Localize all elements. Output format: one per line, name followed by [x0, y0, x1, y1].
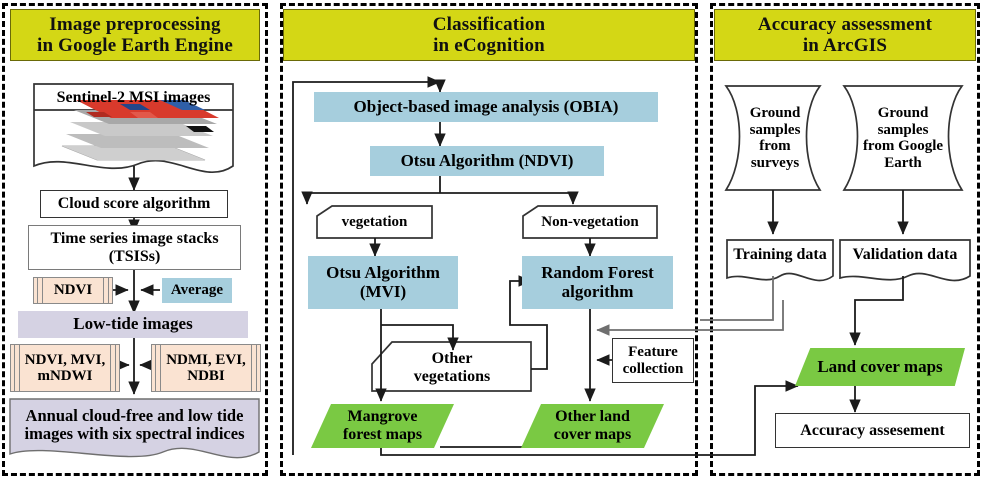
- predefined-bar-left: [14, 345, 20, 391]
- node-ground-samples-google-earth[interactable]: Ground samples from Google Earth: [853, 92, 953, 184]
- node-land-cover-maps[interactable]: Land cover maps: [795, 348, 965, 386]
- ground-surveys-line3: from: [750, 138, 801, 155]
- node-other-cover-maps-line2: cover maps: [554, 426, 631, 444]
- node-mangrove-forest-maps[interactable]: Mangrove forest maps: [311, 404, 454, 448]
- node-annual-images-line2: images with six spectral indices: [25, 425, 245, 443]
- ground-surveys-line4: surveys: [750, 155, 801, 172]
- node-feature-collection-line2: collection: [623, 361, 684, 378]
- node-mangrove-forest-maps-line1: Mangrove: [343, 408, 422, 426]
- node-annual-images-line1: Annual cloud-free and low tide: [25, 407, 245, 425]
- predefined-bar-left: [155, 345, 161, 391]
- node-other-cover-maps-line1: Other land: [554, 408, 631, 426]
- node-random-forest-line1: Random Forest: [541, 264, 654, 283]
- ground-google-line2: samples: [863, 122, 943, 139]
- flowchart-figure: Image preprocessing in Google Earth Engi…: [0, 0, 982, 479]
- node-annual-images[interactable]: Annual cloud-free and low tide images wi…: [10, 400, 259, 450]
- node-validation-data[interactable]: Validation data: [842, 243, 968, 267]
- node-sentinel-label: Sentinel-2 MSI images: [36, 86, 231, 110]
- node-indices-right[interactable]: NDMI, EVI, NDBI: [151, 344, 261, 392]
- node-random-forest-line2: algorithm: [541, 283, 654, 302]
- node-ground-samples-surveys[interactable]: Ground samples from surveys: [736, 92, 814, 184]
- predefined-bar-right: [110, 345, 116, 391]
- node-indices-left[interactable]: NDVI, MVI, mNDWI: [10, 344, 120, 392]
- predefined-bar-right: [103, 278, 109, 303]
- node-other-vegetations[interactable]: Other vegetations: [374, 344, 530, 391]
- node-otsu-ndvi[interactable]: Otsu Algorithm (NDVI): [370, 146, 604, 176]
- ground-surveys-line1: Ground: [750, 105, 801, 122]
- node-cloud-score[interactable]: Cloud score algorithm: [40, 190, 228, 218]
- ground-surveys-line2: samples: [750, 122, 801, 139]
- node-indices-left-line1: NDVI, MVI,: [25, 352, 105, 369]
- node-training-data[interactable]: Training data: [729, 243, 831, 267]
- node-vegetation[interactable]: vegetation: [317, 206, 432, 238]
- node-ndvi[interactable]: NDVI: [33, 277, 113, 304]
- node-otsu-mvi-line2: (MVI): [326, 283, 440, 302]
- node-other-vegetations-line2: vegetations: [414, 368, 490, 386]
- node-other-vegetations-line1: Other: [414, 350, 490, 368]
- node-feature-collection-line1: Feature: [623, 344, 684, 361]
- node-otsu-mvi-line1: Otsu Algorithm: [326, 264, 440, 283]
- node-random-forest[interactable]: Random Forest algorithm: [522, 256, 673, 309]
- node-indices-right-line2: NDBI: [166, 368, 246, 385]
- node-lowtide[interactable]: Low-tide images: [18, 311, 248, 338]
- node-ndvi-label: NDVI: [54, 282, 92, 299]
- predefined-bar-left: [37, 278, 43, 303]
- ground-google-line4: Earth: [863, 155, 943, 172]
- node-indices-right-line1: NDMI, EVI,: [166, 352, 246, 369]
- node-obia[interactable]: Object-based image analysis (OBIA): [314, 92, 658, 122]
- ground-google-line1: Ground: [863, 105, 943, 122]
- node-indices-left-line2: mNDWI: [25, 368, 105, 385]
- node-tsis-line1: Time series image stacks: [50, 230, 218, 248]
- node-tsis[interactable]: Time series image stacks (TSISs): [28, 225, 241, 270]
- node-tsis-line2: (TSISs): [50, 248, 218, 266]
- node-non-vegetation[interactable]: Non-vegetation: [523, 206, 657, 238]
- node-other-cover-maps[interactable]: Other land cover maps: [521, 404, 664, 448]
- node-feature-collection[interactable]: Feature collection: [612, 338, 694, 383]
- node-mangrove-forest-maps-line2: forest maps: [343, 426, 422, 444]
- ground-google-line3: from Google: [863, 138, 943, 155]
- node-average[interactable]: Average: [162, 278, 232, 303]
- node-otsu-mvi[interactable]: Otsu Algorithm (MVI): [308, 256, 458, 309]
- node-accuracy-assessment[interactable]: Accuracy assesement: [775, 413, 970, 448]
- predefined-bar-right: [251, 345, 257, 391]
